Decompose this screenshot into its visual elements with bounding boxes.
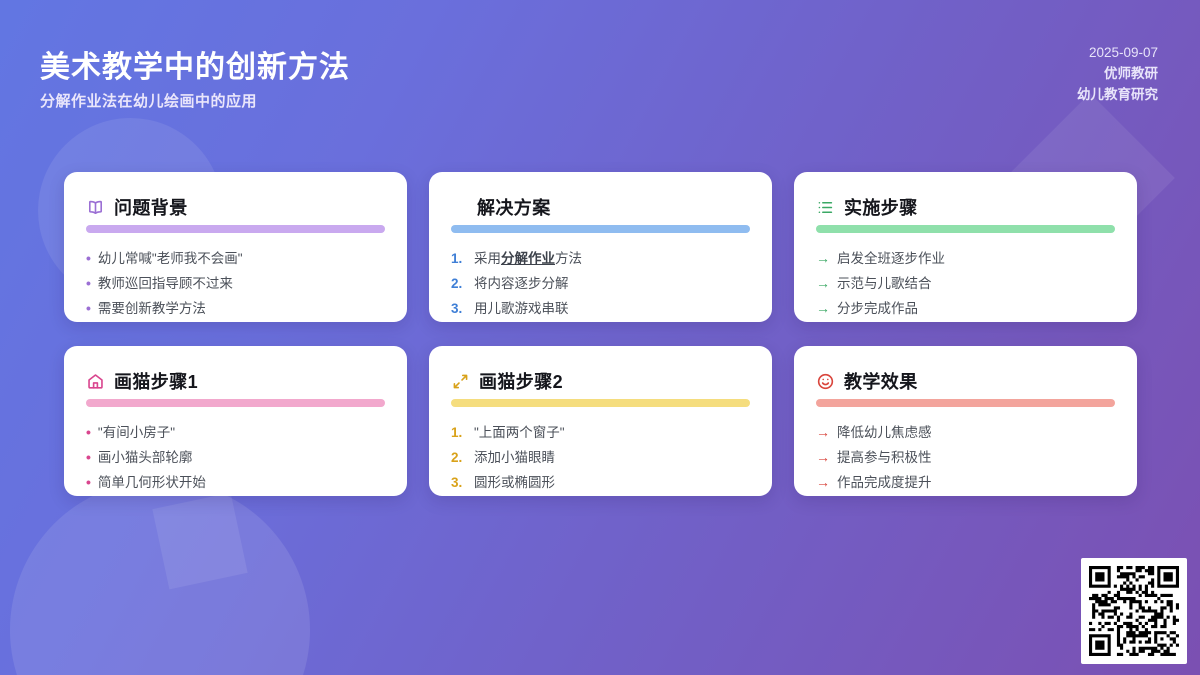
- card-accent-bar: [86, 399, 385, 407]
- smiley-icon: [816, 372, 835, 391]
- list-item-marker: 2.: [451, 271, 467, 296]
- organization-name: 优师教研: [1077, 63, 1158, 84]
- list-item-marker: →: [816, 420, 830, 445]
- qr-code[interactable]: [1081, 558, 1187, 664]
- card-title: 问题背景: [114, 194, 188, 220]
- list-item-text: 降低幼儿焦虑感: [837, 420, 932, 445]
- list-item-text: 圆形或椭圆形: [474, 470, 555, 495]
- content-card: 问题背景•幼儿常喊"老师我不会画"•教师巡回指导顾不过来•需要创新教学方法: [64, 172, 407, 322]
- card-accent-bar: [451, 225, 750, 233]
- list-item-text: 教师巡回指导顾不过来: [98, 271, 233, 296]
- header-meta: 2025-09-07 优师教研 幼儿教育研究: [1077, 42, 1158, 105]
- card-header: 教学效果: [816, 368, 1115, 394]
- card-accent-bar: [451, 399, 750, 407]
- list-icon: [816, 198, 835, 217]
- decorative-circle-bottom-left: [10, 480, 310, 675]
- card-body: →启发全班逐步作业→示范与儿歌结合→分步完成作品: [816, 246, 1115, 321]
- card-body: 1.采用分解作业方法2.将内容逐步分解3.用儿歌游戏串联: [451, 246, 750, 321]
- list-item: 2.将内容逐步分解: [451, 271, 750, 296]
- list-item-marker: 3.: [451, 296, 467, 321]
- list-item: 1."上面两个窗子": [451, 420, 750, 445]
- list-item-text: 示范与儿歌结合: [837, 271, 932, 296]
- list-item: 3.用儿歌游戏串联: [451, 296, 750, 321]
- home-icon: [86, 372, 105, 391]
- list-item-marker: •: [86, 271, 91, 296]
- card-title: 解决方案: [477, 194, 551, 220]
- card-body: •幼儿常喊"老师我不会画"•教师巡回指导顾不过来•需要创新教学方法: [86, 246, 385, 321]
- qr-code-image: [1089, 566, 1179, 656]
- list-item-text: 幼儿常喊"老师我不会画": [98, 246, 243, 271]
- list-item: →分步完成作品: [816, 296, 1115, 321]
- card-title: 教学效果: [844, 368, 918, 394]
- decorative-square-bottom-left: [152, 493, 247, 590]
- list-item: •需要创新教学方法: [86, 296, 385, 321]
- list-item-marker: •: [86, 420, 91, 445]
- list-item-marker: •: [86, 296, 91, 321]
- list-item-marker: •: [86, 246, 91, 271]
- list-item: •画小猫头部轮廓: [86, 445, 385, 470]
- card-title: 画猫步骤2: [479, 368, 563, 394]
- list-item-marker: →: [816, 271, 830, 296]
- list-item-marker: 1.: [451, 420, 467, 445]
- card-header: 问题背景: [86, 194, 385, 220]
- content-card: 实施步骤→启发全班逐步作业→示范与儿歌结合→分步完成作品: [794, 172, 1137, 322]
- list-item: •幼儿常喊"老师我不会画": [86, 246, 385, 271]
- list-item-text: 添加小猫眼睛: [474, 445, 555, 470]
- page-subtitle: 分解作业法在幼儿绘画中的应用: [40, 90, 257, 111]
- content-card: 画猫步骤21."上面两个窗子"2.添加小猫眼睛3.圆形或椭圆形: [429, 346, 772, 496]
- list-item-text-post: 方法: [555, 251, 582, 266]
- list-item-marker: 2.: [451, 445, 467, 470]
- list-item: •简单几何形状开始: [86, 470, 385, 495]
- content-card: 画猫步骤1•"有间小房子"•画小猫头部轮廓•简单几何形状开始: [64, 346, 407, 496]
- list-item-text: 提高参与积极性: [837, 445, 932, 470]
- card-body: •"有间小房子"•画小猫头部轮廓•简单几何形状开始: [86, 420, 385, 495]
- list-item-text-emphasis: 分解作业: [501, 251, 555, 266]
- list-item-text: 将内容逐步分解: [474, 271, 569, 296]
- card-body: →降低幼儿焦虑感→提高参与积极性→作品完成度提升: [816, 420, 1115, 495]
- list-item: →启发全班逐步作业: [816, 246, 1115, 271]
- list-item-text: 分步完成作品: [837, 296, 918, 321]
- list-item: →降低幼儿焦虑感: [816, 420, 1115, 445]
- list-item-text: 作品完成度提升: [837, 470, 932, 495]
- card-header: 解决方案: [451, 194, 750, 220]
- slide-root: 美术教学中的创新方法 分解作业法在幼儿绘画中的应用 2025-09-07 优师教…: [0, 0, 1200, 675]
- list-item-marker: 1.: [451, 246, 467, 271]
- list-item-marker: 3.: [451, 470, 467, 495]
- list-item: •"有间小房子": [86, 420, 385, 445]
- category-name: 幼儿教育研究: [1077, 84, 1158, 105]
- list-item: 3.圆形或椭圆形: [451, 470, 750, 495]
- list-item-text: 简单几何形状开始: [98, 470, 206, 495]
- card-header: 画猫步骤2: [451, 368, 750, 394]
- list-item-marker: →: [816, 246, 830, 271]
- list-item: 1.采用分解作业方法: [451, 246, 750, 271]
- list-item-marker: →: [816, 470, 830, 495]
- list-item-text: "上面两个窗子": [474, 420, 565, 445]
- content-card: 教学效果→降低幼儿焦虑感→提高参与积极性→作品完成度提升: [794, 346, 1137, 496]
- list-item-text: 采用分解作业方法: [474, 246, 582, 271]
- expand-arrows-icon: [451, 372, 470, 391]
- card-header: 画猫步骤1: [86, 368, 385, 394]
- card-title: 实施步骤: [844, 194, 918, 220]
- list-item: →提高参与积极性: [816, 445, 1115, 470]
- content-card: 解决方案1.采用分解作业方法2.将内容逐步分解3.用儿歌游戏串联: [429, 172, 772, 322]
- list-item-marker: •: [86, 445, 91, 470]
- open-book-icon: [86, 198, 105, 217]
- list-item-marker: •: [86, 470, 91, 495]
- card-accent-bar: [816, 225, 1115, 233]
- card-accent-bar: [86, 225, 385, 233]
- list-item: →示范与儿歌结合: [816, 271, 1115, 296]
- list-item-text: "有间小房子": [98, 420, 175, 445]
- page-title: 美术教学中的创新方法: [40, 42, 350, 86]
- publish-date: 2025-09-07: [1077, 42, 1158, 63]
- list-item: •教师巡回指导顾不过来: [86, 271, 385, 296]
- list-item-text-pre: 采用: [474, 251, 501, 266]
- list-item-text: 启发全班逐步作业: [837, 246, 945, 271]
- card-accent-bar: [816, 399, 1115, 407]
- card-header: 实施步骤: [816, 194, 1115, 220]
- list-item: 2.添加小猫眼睛: [451, 445, 750, 470]
- card-title: 画猫步骤1: [114, 368, 198, 394]
- list-item-text: 画小猫头部轮廓: [98, 445, 193, 470]
- card-body: 1."上面两个窗子"2.添加小猫眼睛3.圆形或椭圆形: [451, 420, 750, 495]
- list-item: →作品完成度提升: [816, 470, 1115, 495]
- list-item-marker: →: [816, 296, 830, 321]
- card-grid: 问题背景•幼儿常喊"老师我不会画"•教师巡回指导顾不过来•需要创新教学方法解决方…: [64, 172, 1137, 496]
- list-item-text: 需要创新教学方法: [98, 296, 206, 321]
- slide-header: 美术教学中的创新方法 分解作业法在幼儿绘画中的应用 2025-09-07 优师教…: [0, 0, 1200, 150]
- list-item-text: 用儿歌游戏串联: [474, 296, 569, 321]
- list-item-marker: →: [816, 445, 830, 470]
